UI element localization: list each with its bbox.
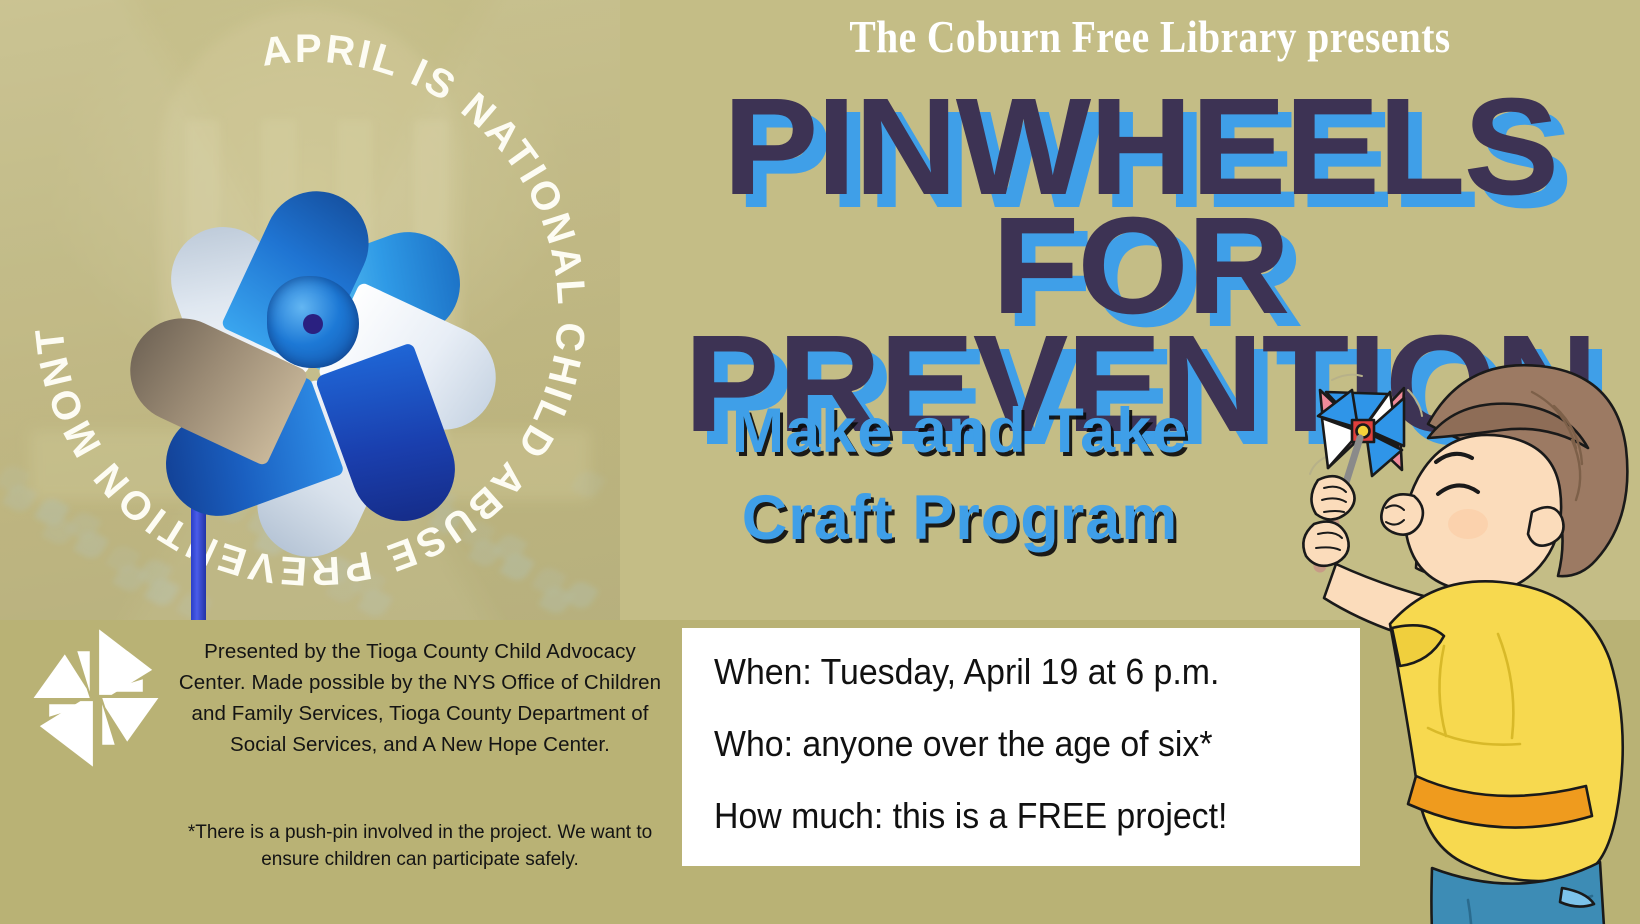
page-title-line-1: PINWHEELS FOR bbox=[620, 88, 1640, 325]
foil-pinwheel-hub bbox=[267, 276, 359, 368]
poster-root: www.pinwheelsforprevention.org APRIL IS … bbox=[0, 0, 1640, 924]
event-when-line: When: Tuesday, April 19 at 6 p.m. bbox=[714, 654, 1293, 690]
page-header-presents: The Coburn Free Library presents bbox=[729, 14, 1572, 60]
page-subtitle-line-2: Craft Program bbox=[650, 475, 1270, 562]
event-cost-line: How much: this is a FREE project! bbox=[714, 798, 1293, 834]
pinwheel-logo-panel: www.pinwheelsforprevention.org APRIL IS … bbox=[0, 0, 620, 620]
footnote-paragraph: *There is a push-pin involved in the pro… bbox=[176, 820, 664, 874]
pinwheel-icon bbox=[18, 620, 174, 776]
credits-paragraph: Presented by the Tioga County Child Advo… bbox=[176, 636, 664, 761]
boy-blowing-pinwheel-illustration bbox=[1232, 328, 1640, 924]
event-who-line: Who: anyone over the age of six* bbox=[714, 726, 1293, 762]
page-subtitle-line-1: Make and Take bbox=[650, 388, 1270, 475]
page-subtitle: Make and Take Craft Program bbox=[650, 388, 1270, 562]
